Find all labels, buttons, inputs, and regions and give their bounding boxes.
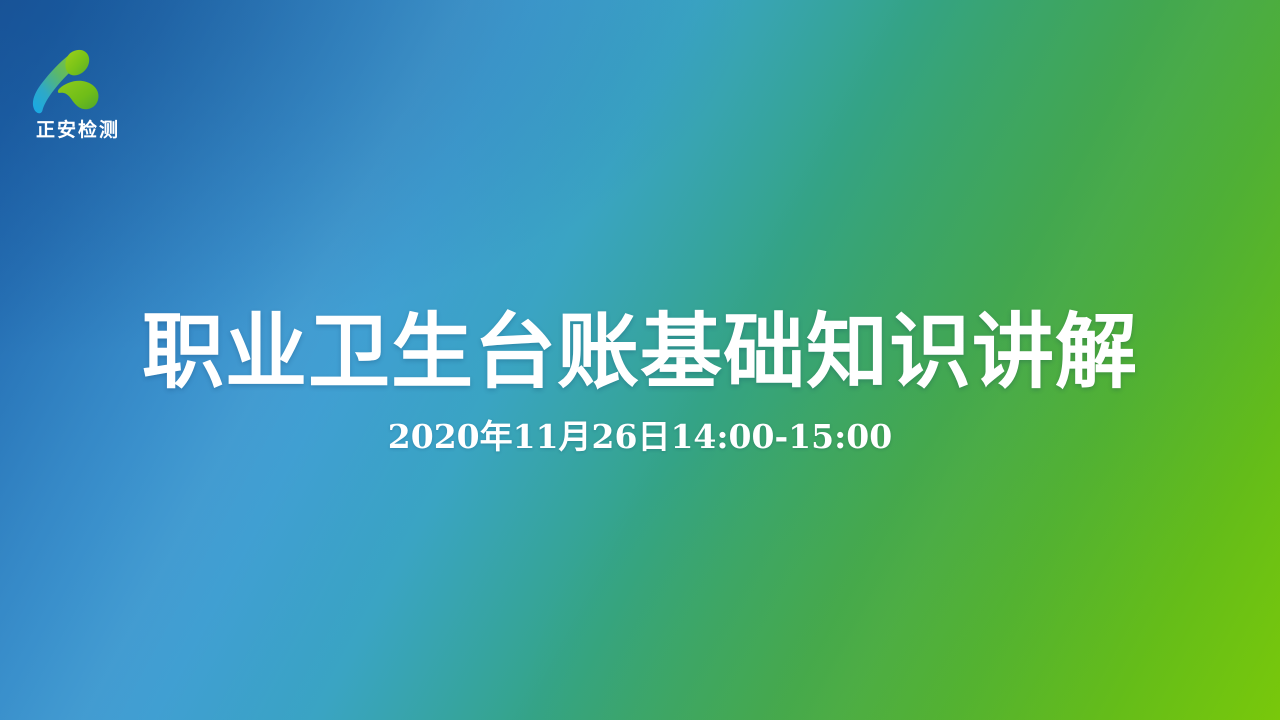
zhengan-logo-mark-icon: [26, 44, 106, 116]
title-slide: 正安检测 职业卫生台账基础知识讲解 2020年11月26日14:00-15:00: [0, 0, 1280, 720]
brand-wordmark: 正安检测: [14, 118, 142, 142]
slide-subtitle-datetime: 2020年11月26日14:00-15:00: [0, 415, 1280, 459]
brand-logo: 正安检测: [14, 44, 154, 152]
slide-title: 职业卫生台账基础知识讲解: [0, 302, 1280, 402]
